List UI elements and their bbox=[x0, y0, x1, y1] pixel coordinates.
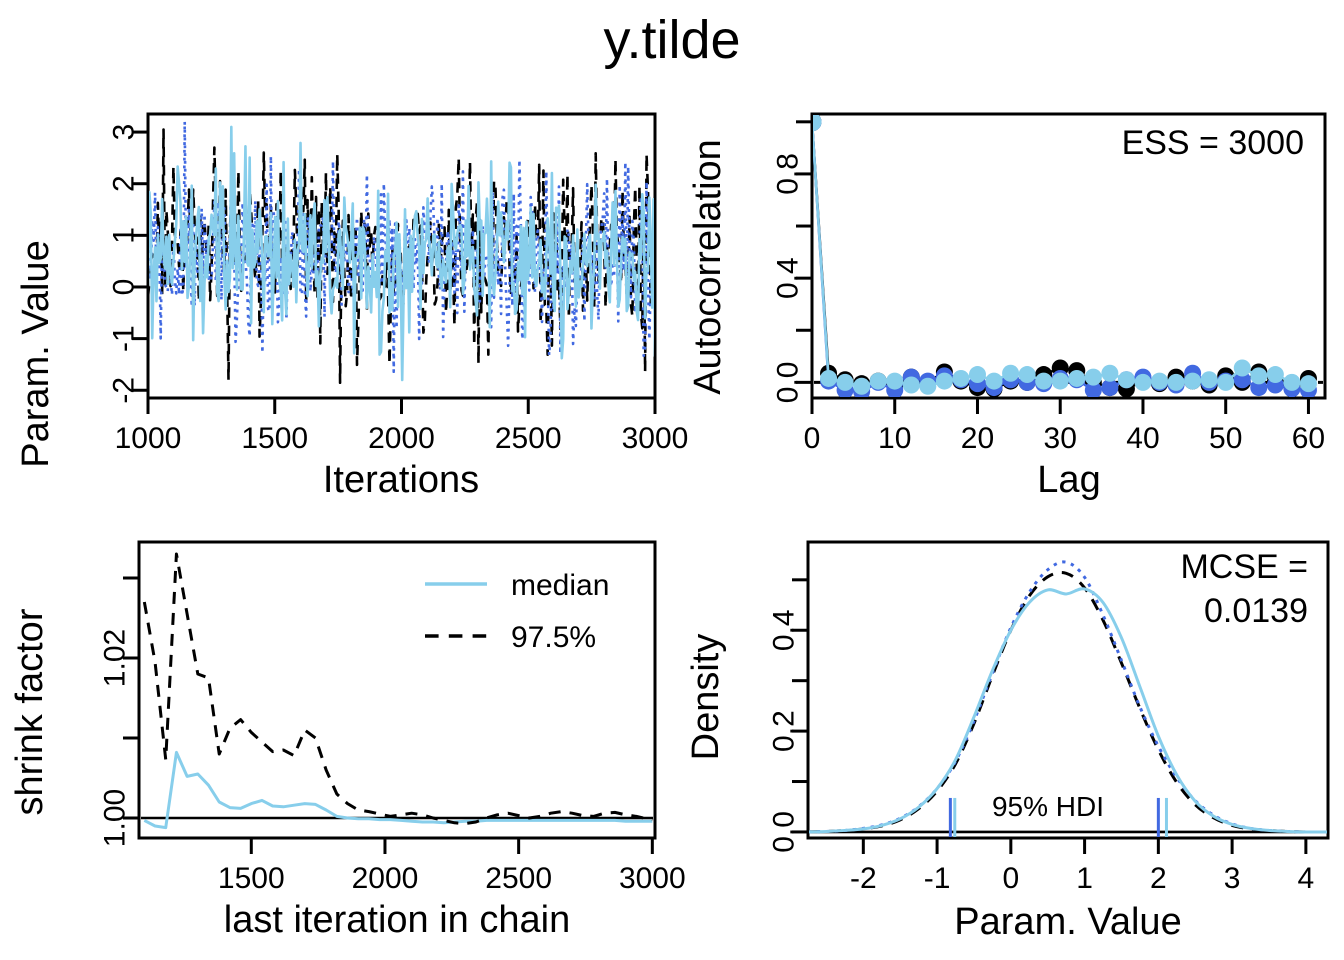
axis-tick-label: -1 bbox=[108, 325, 141, 352]
trace-y-ticks: -2-10123 bbox=[108, 124, 149, 404]
axis-tick-label: 60 bbox=[1292, 422, 1325, 455]
axis-tick-label: 20 bbox=[961, 422, 994, 455]
density-svg: Density 0.00.20.4 -2-101234 MCSE = 0.013… bbox=[672, 512, 1344, 960]
axis-tick-label: -2 bbox=[850, 862, 877, 895]
acf-point bbox=[1068, 370, 1085, 387]
shrink-y-ticks: 1.001.02 bbox=[99, 578, 140, 847]
axis-tick-label: 10 bbox=[878, 422, 911, 455]
trace-x-ticks: 10001500200025003000 bbox=[115, 398, 689, 455]
axis-tick-label: 0.0 bbox=[768, 811, 801, 853]
acf-point bbox=[936, 373, 953, 390]
trace-panel: Param. Value -2-10123 100015002000250030… bbox=[0, 92, 672, 512]
axis-tick-label: 0.2 bbox=[768, 710, 801, 752]
axis-tick-label: 4 bbox=[1298, 862, 1315, 895]
axis-tick-label: 50 bbox=[1209, 422, 1242, 455]
acf-point bbox=[1184, 373, 1201, 390]
acf-point bbox=[1267, 366, 1284, 383]
axis-tick-label: 30 bbox=[1044, 422, 1077, 455]
density-xlabel: Param. Value bbox=[954, 901, 1181, 943]
mcse-annotation-line2: 0.0139 bbox=[1204, 592, 1308, 630]
acf-point bbox=[837, 374, 854, 391]
axis-tick-label: 1500 bbox=[218, 862, 285, 895]
axis-tick-label: -2 bbox=[108, 377, 141, 404]
density-x-ticks: -2-101234 bbox=[850, 838, 1314, 895]
legend-label-median: median bbox=[511, 569, 609, 602]
mcmc-diagnostic-figure: y.tilde Param. Value -2-10123 1000150020… bbox=[0, 0, 1344, 960]
acf-point bbox=[969, 366, 986, 383]
trace-ylabel: Param. Value bbox=[15, 240, 57, 467]
shrink-ylabel: shrink factor bbox=[9, 608, 51, 815]
axis-tick-label: 1 bbox=[108, 227, 141, 244]
acf-line-2 bbox=[812, 122, 1308, 392]
shrink-legend: median97.5% bbox=[425, 569, 609, 654]
density-y-ticks: 0.00.20.4 bbox=[768, 580, 809, 853]
shrink-factor-panel: shrink factor 1.001.02 1500200025003000 … bbox=[0, 512, 672, 960]
acf-point bbox=[1250, 367, 1267, 384]
axis-tick-label: 0.8 bbox=[772, 153, 805, 195]
trace-svg: Param. Value -2-10123 100015002000250030… bbox=[0, 92, 672, 512]
axis-tick-label: 0.0 bbox=[772, 362, 805, 404]
axis-tick-label: 2000 bbox=[352, 862, 419, 895]
density-panel: Density 0.00.20.4 -2-101234 MCSE = 0.013… bbox=[672, 512, 1344, 960]
ess-annotation: ESS = 3000 bbox=[1122, 124, 1304, 162]
axis-tick-label: 0 bbox=[108, 279, 141, 296]
axis-tick-label: -1 bbox=[924, 862, 951, 895]
axis-tick-label: 1.02 bbox=[99, 629, 132, 687]
trace-series bbox=[148, 122, 655, 383]
acf-point bbox=[952, 370, 969, 387]
axis-tick-label: 2500 bbox=[495, 422, 562, 455]
acf-point bbox=[853, 378, 870, 395]
acf-point bbox=[1234, 360, 1251, 377]
acf-point bbox=[1052, 373, 1069, 390]
acf-point bbox=[1002, 365, 1019, 382]
acf-point bbox=[1118, 371, 1135, 388]
acf-y-ticks: 0.00.40.8 bbox=[772, 122, 813, 403]
acf-point bbox=[1201, 371, 1218, 388]
axis-tick-label: 40 bbox=[1126, 422, 1159, 455]
axis-tick-label: 0.4 bbox=[772, 257, 805, 299]
acf-x-ticks: 0102030405060 bbox=[804, 398, 1325, 455]
acf-point bbox=[986, 373, 1003, 390]
hdi-label: 95% HDI bbox=[992, 791, 1104, 822]
axis-tick-label: 0 bbox=[1002, 862, 1019, 895]
acf-point bbox=[1134, 374, 1151, 391]
acf-point bbox=[1085, 369, 1102, 386]
shrink-x-ticks: 1500200025003000 bbox=[218, 838, 686, 895]
acf-point bbox=[903, 376, 920, 393]
axis-tick-label: 3 bbox=[1224, 862, 1241, 895]
acf-xlabel: Lag bbox=[1037, 459, 1100, 501]
acf-point bbox=[870, 373, 887, 390]
axis-tick-label: 2500 bbox=[485, 862, 552, 895]
acf-svg: Autocorrelation 0.00.40.8 0102030405060 … bbox=[672, 92, 1344, 512]
acf-point bbox=[1101, 365, 1118, 382]
acf-point bbox=[919, 378, 936, 395]
shrink-line-median bbox=[144, 752, 652, 827]
autocorrelation-panel: Autocorrelation 0.00.40.8 0102030405060 … bbox=[672, 92, 1344, 512]
axis-tick-label: 2 bbox=[1150, 862, 1167, 895]
acf-point bbox=[1217, 374, 1234, 391]
acf-point bbox=[886, 373, 903, 390]
acf-point bbox=[1300, 375, 1317, 392]
density-ylabel: Density bbox=[685, 634, 727, 761]
acf-point bbox=[1283, 374, 1300, 391]
axis-tick-label: 2 bbox=[108, 175, 141, 192]
axis-tick-label: 0 bbox=[804, 422, 821, 455]
acf-point bbox=[820, 370, 837, 387]
acf-point bbox=[1168, 374, 1185, 391]
shrink-xlabel: last iteration in chain bbox=[224, 899, 570, 941]
page-title: y.tilde bbox=[0, 6, 1344, 74]
trace-xlabel: Iterations bbox=[323, 459, 479, 501]
acf-point bbox=[1151, 373, 1168, 390]
axis-tick-label: 1500 bbox=[241, 422, 308, 455]
mcse-annotation-line1: MCSE = bbox=[1180, 548, 1308, 586]
legend-label-97.5%: 97.5% bbox=[511, 621, 596, 654]
axis-tick-label: 0.4 bbox=[768, 609, 801, 651]
axis-tick-label: 2000 bbox=[368, 422, 435, 455]
axis-tick-label: 3 bbox=[108, 124, 141, 141]
axis-tick-label: 1 bbox=[1076, 862, 1093, 895]
axis-tick-label: 1.00 bbox=[99, 789, 132, 847]
acf-point bbox=[1019, 366, 1036, 383]
shrink-svg: shrink factor 1.001.02 1500200025003000 … bbox=[0, 512, 672, 960]
acf-point bbox=[1035, 373, 1052, 390]
acf-ylabel: Autocorrelation bbox=[687, 139, 729, 395]
axis-tick-label: 1000 bbox=[115, 422, 182, 455]
